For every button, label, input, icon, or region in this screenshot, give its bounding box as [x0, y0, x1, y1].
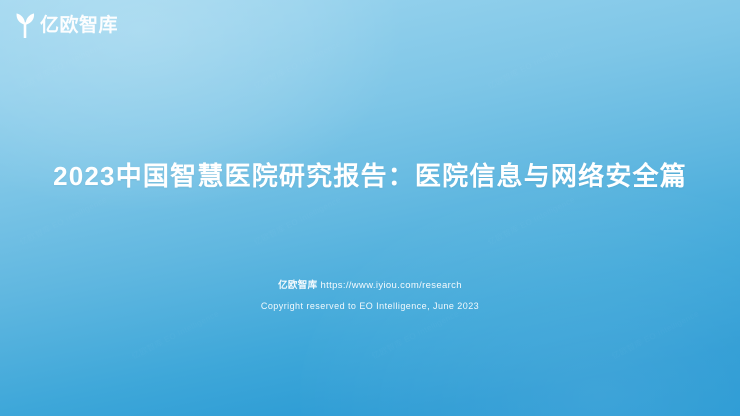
watermark-text: 亿欧智库 EO Intelligence	[252, 194, 343, 248]
watermark-text: 亿欧智库 EO Intelligence	[252, 38, 343, 92]
brand-logo: 亿欧智库	[14, 10, 118, 40]
watermark-text: 亿欧智库 EO Intelligence	[486, 38, 577, 92]
watermark-text: 亿欧智库 EO Intelligence	[18, 38, 109, 92]
page-title: 2023中国智慧医院研究报告：医院信息与网络安全篇	[0, 160, 740, 193]
footer-copyright: Copyright reserved to EO Intelligence, J…	[0, 298, 740, 314]
footer-url[interactable]: https://www.iyiou.com/research	[320, 280, 461, 291]
eo-sprout-logo-icon	[14, 12, 36, 38]
watermark-text: 亿欧智库 EO Intelligence	[610, 308, 701, 362]
title-slide: 亿欧智库 EO Intelligence亿欧智库 EO Intelligence…	[0, 0, 740, 416]
footer-source-line: 亿欧智库https://www.iyiou.com/research	[0, 278, 740, 294]
brand-logo-text: 亿欧智库	[40, 16, 118, 35]
watermark-text: 亿欧智库 EO Intelligence	[486, 194, 577, 248]
footer: 亿欧智库https://www.iyiou.com/research Copyr…	[0, 278, 740, 314]
watermark-text: 亿欧智库 EO Intelligence	[130, 308, 221, 362]
watermark-layer: 亿欧智库 EO Intelligence亿欧智库 EO Intelligence…	[0, 0, 740, 416]
watermark-text: 亿欧智库 EO Intelligence	[370, 308, 461, 362]
watermark-text: 亿欧智库 EO Intelligence	[18, 194, 109, 248]
footer-brand: 亿欧智库	[278, 280, 317, 291]
